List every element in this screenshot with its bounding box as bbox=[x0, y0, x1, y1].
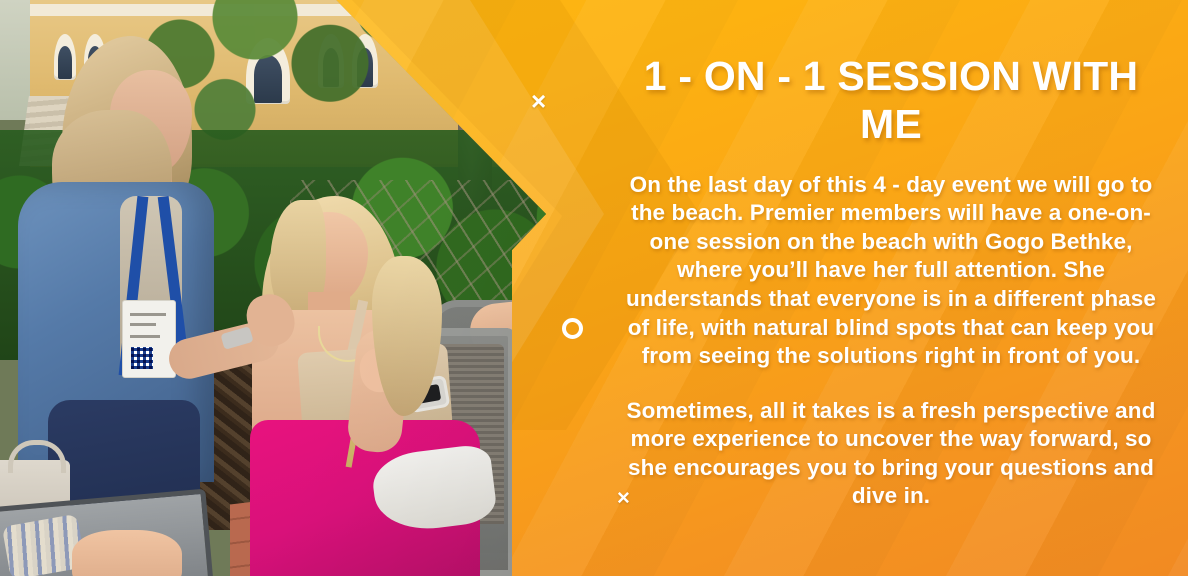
paragraph-2: Sometimes, all it takes is a fresh persp… bbox=[618, 397, 1164, 511]
circle-outline-icon[interactable] bbox=[562, 318, 583, 339]
text-panel: 1 - ON - 1 SESSION WITH ME On the last d… bbox=[594, 0, 1188, 576]
page-title: 1 - ON - 1 SESSION WITH ME bbox=[636, 52, 1146, 149]
close-icon[interactable]: × bbox=[531, 88, 546, 114]
paragraph-1: On the last day of this 4 - day event we… bbox=[618, 171, 1164, 371]
body-copy: On the last day of this 4 - day event we… bbox=[618, 171, 1164, 511]
slide-canvas: × × 1 - ON - 1 SESSION WITH ME On the la… bbox=[0, 0, 1188, 576]
